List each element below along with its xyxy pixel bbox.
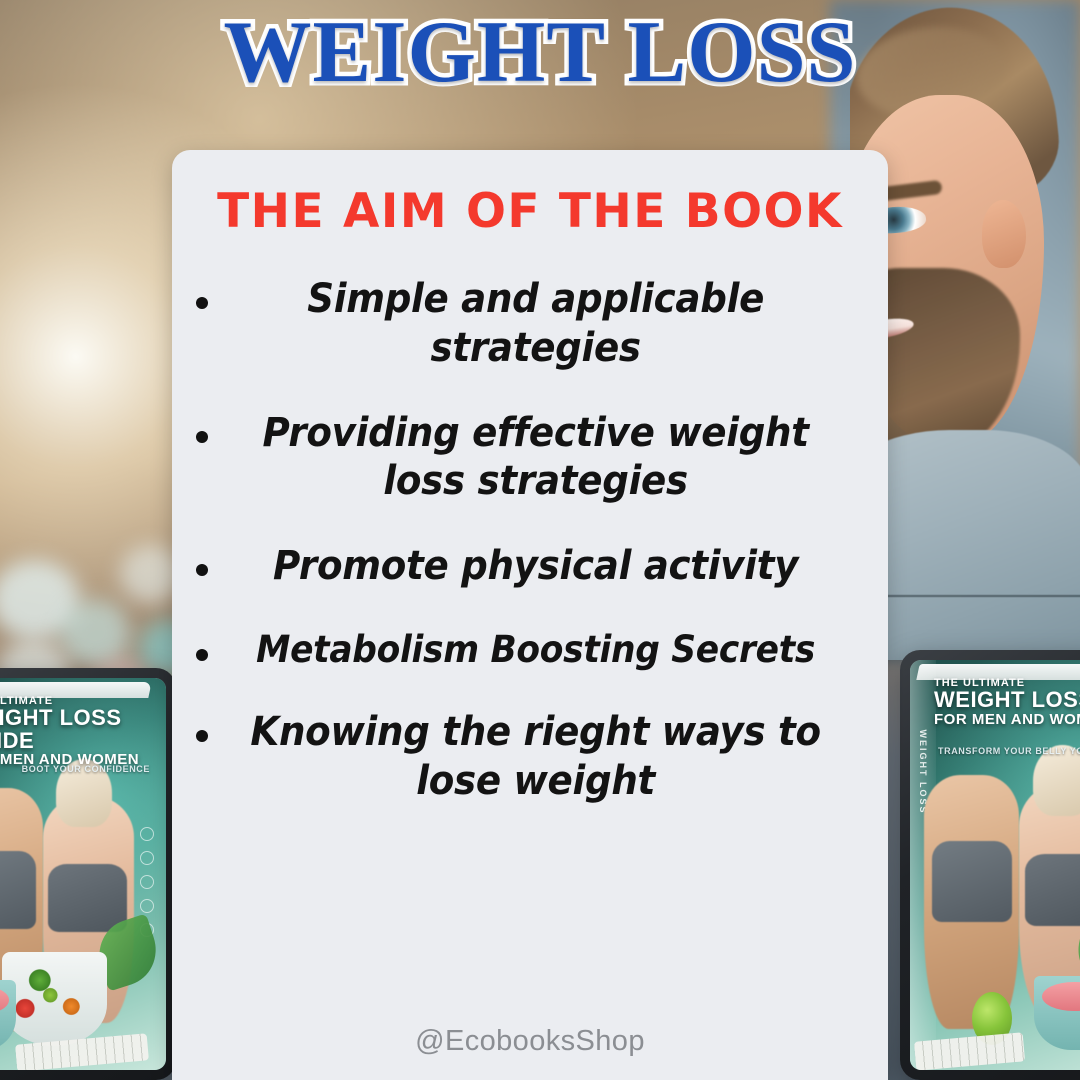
list-item-label: Providing effective weight loss strategi… — [241, 409, 847, 507]
tablet-left-screen: THE ULTIMATE WEIGHT LOSS GUIDE FOR MEN A… — [0, 678, 166, 1070]
aims-list: Simple and applicable strategies Providi… — [190, 275, 870, 1025]
tablet-left: THE ULTIMATE WEIGHT LOSS GUIDE FOR MEN A… — [0, 668, 176, 1080]
bullet-dot-icon — [196, 297, 208, 309]
list-item-label: Metabolism Boosting Secrets — [241, 627, 847, 672]
bullet-dot-icon — [196, 730, 208, 742]
list-item-label: Knowing the rieght ways to lose weight — [241, 708, 847, 806]
badge-icon — [140, 827, 154, 841]
badge-icon — [140, 875, 154, 889]
bokeh-light — [60, 600, 130, 666]
bullet-dot-icon — [196, 564, 208, 576]
bullet-dot-icon — [196, 649, 208, 661]
cover-line-3: FOR MEN AND WOMEN — [934, 712, 1080, 727]
cover-line-2: WEIGHT LOSS GUIDE — [0, 707, 162, 752]
poster-canvas: WEIGHT LOSS THE ULTIMATE WEIGHT LOSS GUI… — [0, 0, 1080, 1080]
content-card: THE AIM OF THE BOOK Simple and applicabl… — [172, 150, 888, 1080]
poster-title-area: WEIGHT LOSS — [0, 0, 1080, 105]
list-item: Metabolism Boosting Secrets — [190, 627, 870, 672]
list-item: Knowing the rieght ways to lose weight — [190, 708, 870, 806]
vegetable-bowl — [2, 952, 107, 1046]
cover-subtitle-left: BOOT YOUR CONFIDENCE — [22, 764, 150, 775]
book-cover-title-left: THE ULTIMATE WEIGHT LOSS GUIDE FOR MEN A… — [0, 696, 162, 767]
bullet-dot-icon — [196, 431, 208, 443]
book-cover-title-right: THE ULTIMATE WEIGHT LOSS FOR MEN AND WOM… — [934, 678, 1080, 727]
tablet-right: WEIGHT LOSS THE ULTIMATE WEIGHT LOSS FOR… — [900, 650, 1080, 1080]
badge-icon — [140, 899, 154, 913]
list-item-label: Promote physical activity — [241, 542, 847, 591]
book-cover-left: THE ULTIMATE WEIGHT LOSS GUIDE FOR MEN A… — [0, 678, 166, 1070]
list-item: Simple and applicable strategies — [190, 275, 870, 373]
cover-subtitle-right: TRANSFORM YOUR BELLY YOUR BODY — [938, 746, 1080, 757]
list-item: Providing effective weight loss strategi… — [190, 409, 870, 507]
card-heading: THE AIM OF THE BOOK — [190, 188, 870, 235]
page-title: WEIGHT LOSS — [224, 9, 857, 97]
cover-line-2: WEIGHT LOSS — [934, 689, 1080, 711]
tablet-right-screen: WEIGHT LOSS THE ULTIMATE WEIGHT LOSS FOR… — [910, 660, 1080, 1070]
smoothie-cup — [0, 980, 16, 1051]
shop-handle: @EcobooksShop — [190, 1025, 870, 1080]
list-item-label: Simple and applicable strategies — [241, 275, 847, 373]
cover-figure-man — [924, 775, 1019, 1029]
book-cover-right: WEIGHT LOSS THE ULTIMATE WEIGHT LOSS FOR… — [910, 660, 1080, 1070]
list-item: Promote physical activity — [190, 542, 870, 591]
ear — [982, 200, 1026, 268]
badge-icon — [140, 851, 154, 865]
smoothie-cup — [1034, 976, 1080, 1050]
